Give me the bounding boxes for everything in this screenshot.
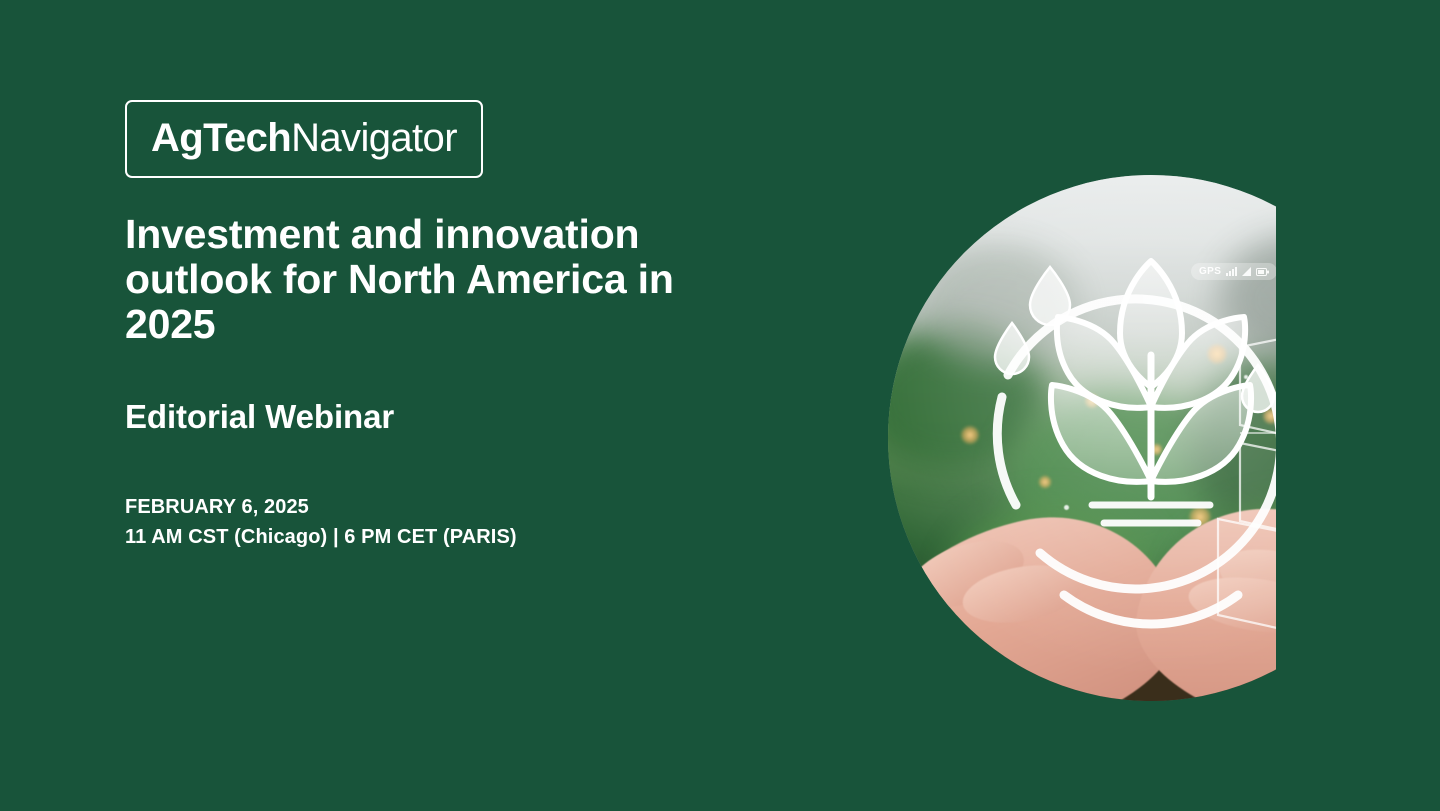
event-times: 11 AM CST (Chicago) | 6 PM CET (PARIS) bbox=[125, 522, 885, 552]
sprout-base-lines bbox=[1092, 505, 1210, 523]
webinar-promo-slide: AgTechNavigator Investment and innovatio… bbox=[0, 0, 1440, 811]
content-column: AgTechNavigator Investment and innovatio… bbox=[125, 100, 885, 552]
agtech-navigator-logo: AgTechNavigator bbox=[125, 100, 483, 178]
logo-light-word: Navigator bbox=[291, 118, 457, 158]
sprout-icon bbox=[1051, 261, 1251, 497]
logo-bold-word: AgTech bbox=[151, 118, 291, 158]
page-title: Investment and innovation outlook for No… bbox=[125, 212, 775, 347]
signal-bars-icon bbox=[1226, 267, 1237, 276]
satellite-icon bbox=[1242, 267, 1251, 276]
gps-status-badge: GPS bbox=[1191, 263, 1276, 280]
hero-image-circle: GPS bbox=[888, 175, 1276, 701]
page-subtitle: Editorial Webinar bbox=[125, 399, 885, 435]
hud-overlay bbox=[888, 175, 1276, 701]
gps-label: GPS bbox=[1199, 266, 1221, 277]
event-date: FEBRUARY 6, 2025 bbox=[125, 492, 885, 522]
hero-image-clip: GPS bbox=[888, 175, 1276, 701]
battery-icon bbox=[1256, 268, 1269, 276]
schedule-block: FEBRUARY 6, 2025 11 AM CST (Chicago) | 6… bbox=[125, 492, 885, 552]
